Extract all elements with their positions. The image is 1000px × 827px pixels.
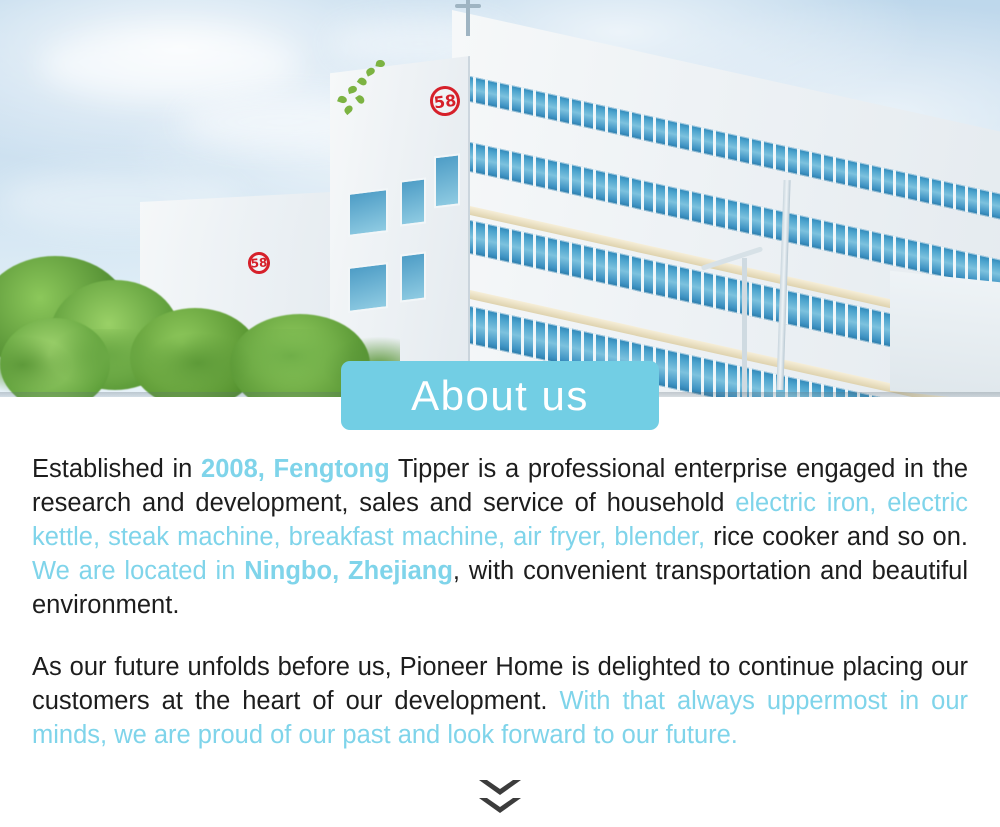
about-us-page: 58 58 About us Established in 2008, Feng…	[0, 0, 1000, 827]
chevron-down-icon	[479, 798, 521, 813]
hero-banner-image: 58 58	[0, 0, 1000, 397]
foreground-trees	[0, 222, 400, 397]
about-us-badge: About us	[341, 361, 659, 430]
scroll-down-indicator[interactable]	[0, 780, 1000, 813]
window	[400, 251, 426, 302]
about-paragraph-1: Established in 2008, Fengtong Tipper is …	[32, 452, 968, 622]
window	[434, 153, 460, 208]
street-lamp-post	[742, 258, 747, 397]
about-content: Established in 2008, Fengtong Tipper is …	[32, 452, 968, 752]
text-run-2: 2008, Fengtong	[201, 455, 390, 483]
text-run-1: Established in	[32, 455, 201, 483]
shrub-line	[0, 329, 400, 397]
window	[400, 177, 426, 226]
roof-antenna-crossbar	[455, 4, 481, 8]
far-right-building	[890, 271, 1000, 397]
text-run-5: rice cooker and so on.	[705, 523, 968, 551]
text-run-6: We are located in	[32, 557, 244, 585]
roof-plants	[332, 56, 402, 116]
about-paragraph-2: As our future unfolds before us, Pioneer…	[32, 650, 968, 752]
text-run-7: Ningbo, Zhejiang	[244, 557, 453, 585]
cloud	[40, 30, 300, 100]
about-us-title: About us	[411, 375, 589, 417]
chevron-down-icon	[479, 780, 521, 795]
